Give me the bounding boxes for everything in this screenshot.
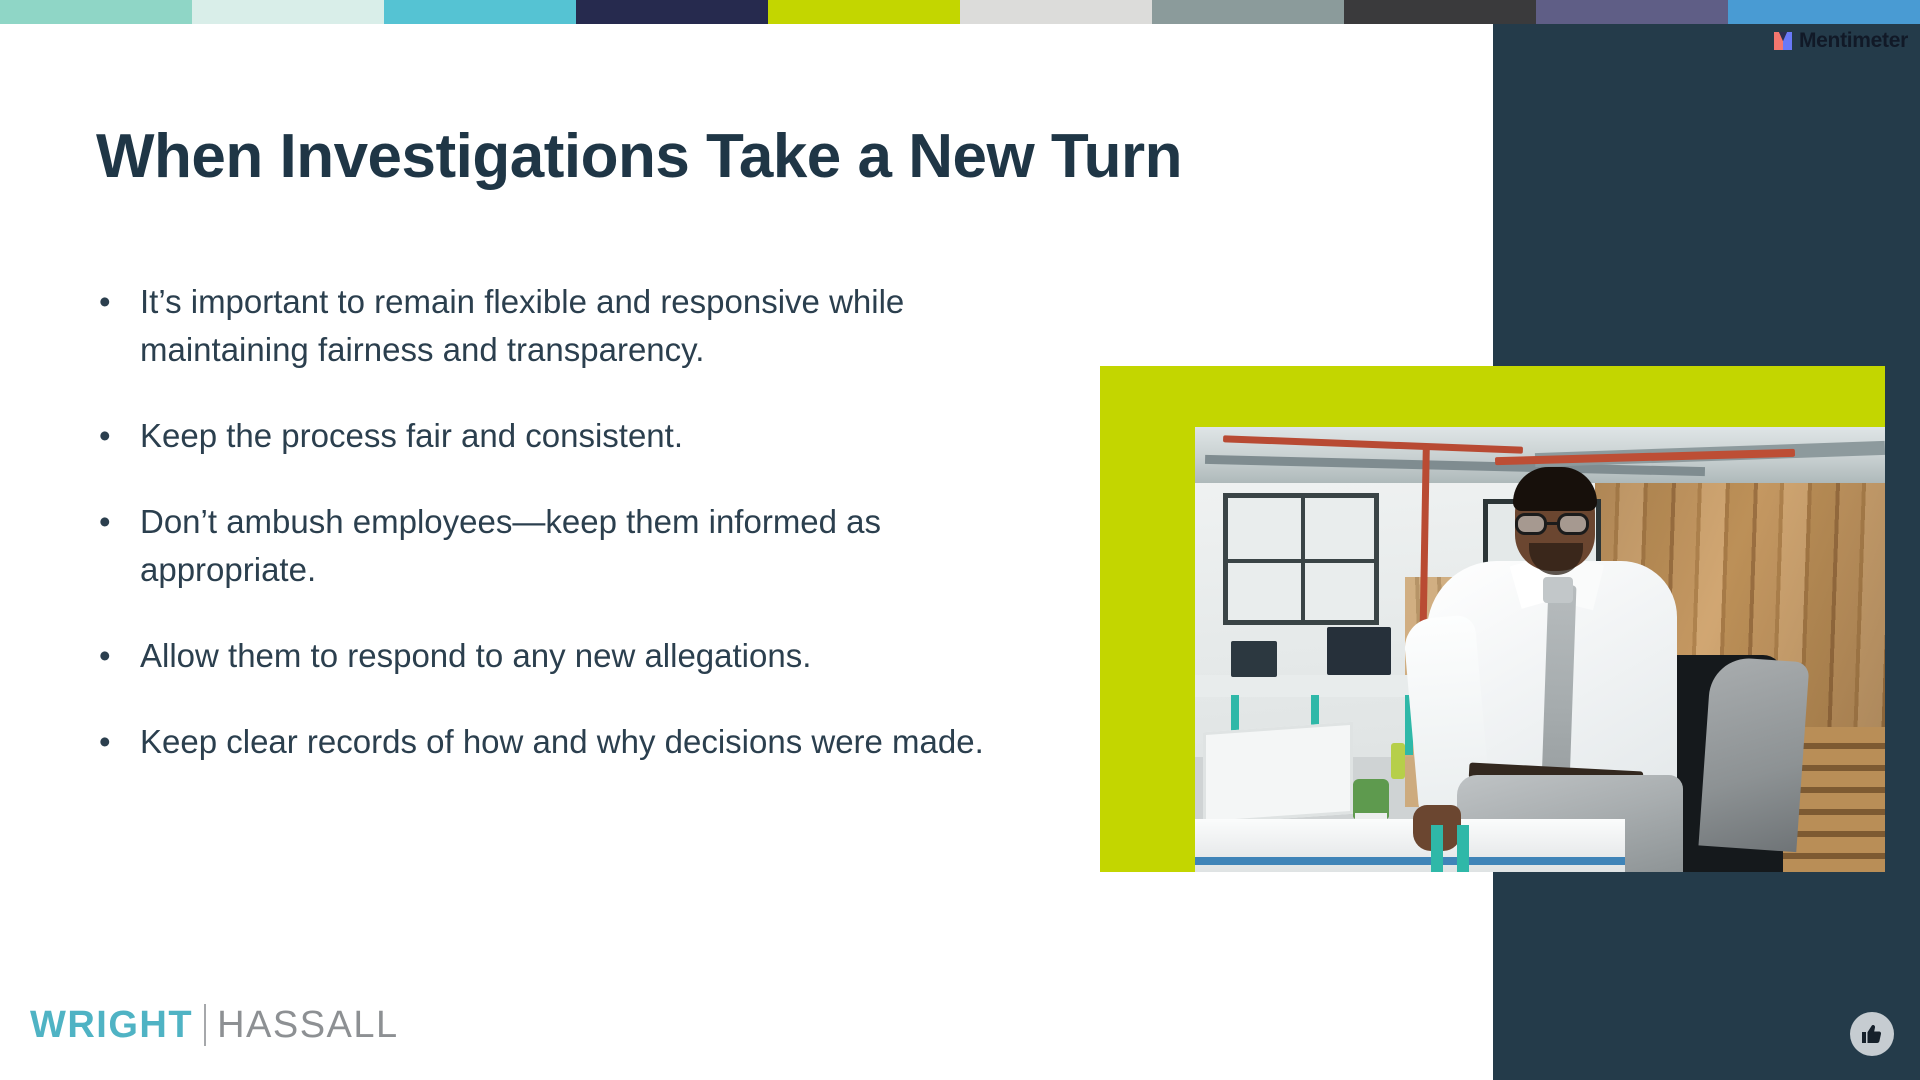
color-swatch-sage-grey xyxy=(1152,0,1344,24)
color-swatch-pale-mint xyxy=(192,0,384,24)
bullet-text: It’s important to remain flexible and re… xyxy=(140,278,1006,374)
slide-title: When Investigations Take a New Turn xyxy=(96,123,1426,191)
wright-hassall-logo: WRIGHT HASSALL xyxy=(30,1004,399,1046)
color-swatch-sky-blue xyxy=(1728,0,1920,24)
bullet-text: Keep clear records of how and why decisi… xyxy=(140,718,1006,766)
list-item: • It’s important to remain flexible and … xyxy=(96,278,1006,374)
bullet-marker-icon: • xyxy=(96,718,140,766)
logo-text-wright: WRIGHT xyxy=(30,1006,193,1044)
bullet-text: Don’t ambush employees—keep them informe… xyxy=(140,498,1006,594)
bullet-text: Keep the process fair and consistent. xyxy=(140,412,1006,460)
photo-jacket-on-chair xyxy=(1698,656,1809,852)
bullet-marker-icon: • xyxy=(96,632,140,680)
photo-monitor xyxy=(1327,627,1391,675)
photo-bottle xyxy=(1391,743,1405,779)
thumbs-up-reaction-button[interactable] xyxy=(1850,1012,1894,1056)
photo-tie-knot xyxy=(1543,577,1573,603)
list-item: • Keep the process fair and consistent. xyxy=(96,412,1006,460)
color-swatch-charcoal xyxy=(1344,0,1536,24)
photo-window xyxy=(1223,493,1379,625)
list-item: • Don’t ambush employees—keep them infor… xyxy=(96,498,1006,594)
photo-laptop xyxy=(1203,722,1353,824)
logo-text-hassall: HASSALL xyxy=(217,1006,399,1044)
color-swatch-mint-green xyxy=(0,0,192,24)
mentimeter-wordmark: Mentimeter xyxy=(1799,30,1908,51)
thumbs-up-icon xyxy=(1860,1022,1884,1046)
office-professional-photo xyxy=(1195,427,1885,872)
bullet-text: Allow them to respond to any new allegat… xyxy=(140,632,1006,680)
photo-monitor-2 xyxy=(1231,641,1277,677)
list-item: • Allow them to respond to any new alleg… xyxy=(96,632,1006,680)
bullet-marker-icon: • xyxy=(96,412,140,460)
bullet-marker-icon: • xyxy=(96,278,140,326)
color-swatch-lime-green xyxy=(768,0,960,24)
logo-divider xyxy=(204,1004,206,1046)
photo-person-glasses xyxy=(1515,513,1597,535)
photo-desk-edge xyxy=(1195,857,1625,865)
list-item: • Keep clear records of how and why deci… xyxy=(96,718,1006,766)
mentimeter-m-icon xyxy=(1773,30,1793,51)
color-swatch-indigo-navy xyxy=(576,0,768,24)
color-strip xyxy=(0,0,1920,24)
color-swatch-slate-purple xyxy=(1536,0,1728,24)
mentimeter-watermark: Mentimeter xyxy=(1773,27,1908,53)
presentation-slide: Mentimeter When Investigations Take a Ne… xyxy=(0,0,1920,1080)
bullet-list: • It’s important to remain flexible and … xyxy=(96,278,1006,766)
photo-teal-rail-2 xyxy=(1457,825,1469,872)
color-swatch-cyan-teal xyxy=(384,0,576,24)
color-swatch-light-grey xyxy=(960,0,1152,24)
bullet-marker-icon: • xyxy=(96,498,140,546)
photo-teal-rail xyxy=(1431,825,1443,872)
